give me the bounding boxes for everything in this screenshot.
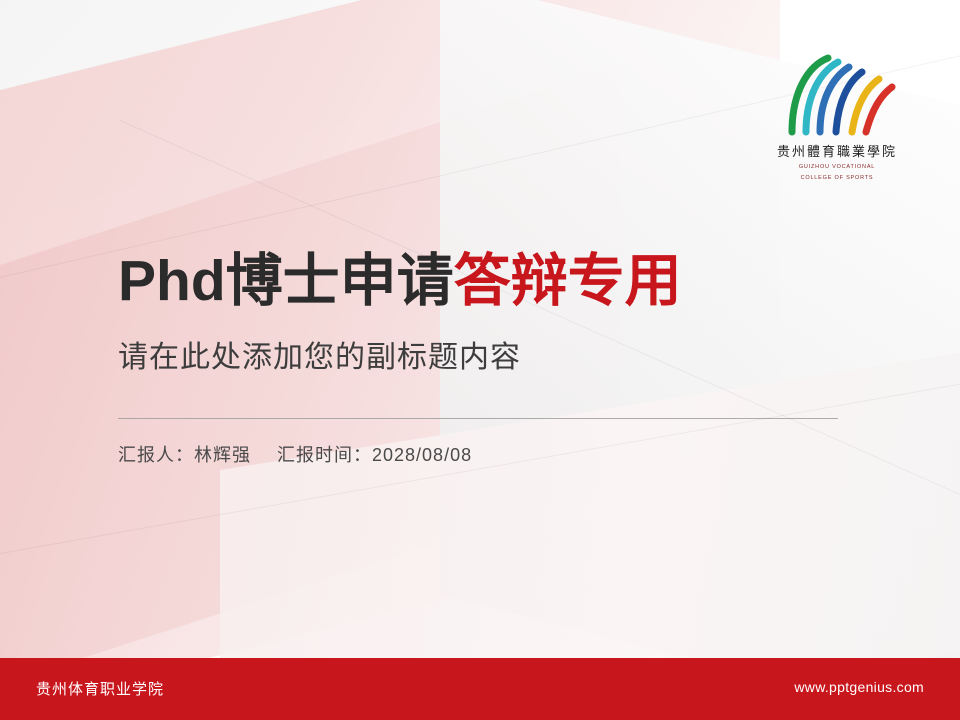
slide-title-primary: Phd博士申请 xyxy=(118,249,454,313)
guizhou-sports-college-logo-icon xyxy=(762,52,912,137)
presentation-title-slide: 贵州體育職業學院 GUIZHOU VOCATIONAL COLLEGE OF S… xyxy=(0,0,960,720)
slide-footer: 贵州体育职业学院 www.pptgenius.com xyxy=(0,658,960,720)
title-block: Phd博士申请答辩专用 请在此处添加您的副标题内容 汇报人：林辉强汇报时间：20… xyxy=(118,246,848,467)
logo-name-en-line2: COLLEGE OF SPORTS xyxy=(742,174,932,182)
slide-title: Phd博士申请答辩专用 xyxy=(118,246,848,316)
footer-website[interactable]: www.pptgenius.com xyxy=(794,679,924,695)
footer-school-name: 贵州体育职业学院 xyxy=(36,678,164,699)
logo-name-cn: 贵州體育職業學院 xyxy=(742,141,932,160)
logo-name-en-line1: GUIZHOU VOCATIONAL xyxy=(742,163,932,171)
slide-meta: 汇报人：林辉强汇报时间：2028/08/08 xyxy=(118,441,848,467)
slide-subtitle: 请在此处添加您的副标题内容 xyxy=(118,338,848,378)
presenter-label: 汇报人：林辉强 xyxy=(118,445,251,465)
divider-line xyxy=(118,418,838,419)
date-label: 汇报时间：2028/08/08 xyxy=(277,445,472,465)
school-logo: 贵州體育職業學院 GUIZHOU VOCATIONAL COLLEGE OF S… xyxy=(742,52,932,187)
slide-title-accent: 答辩专用 xyxy=(454,249,682,313)
